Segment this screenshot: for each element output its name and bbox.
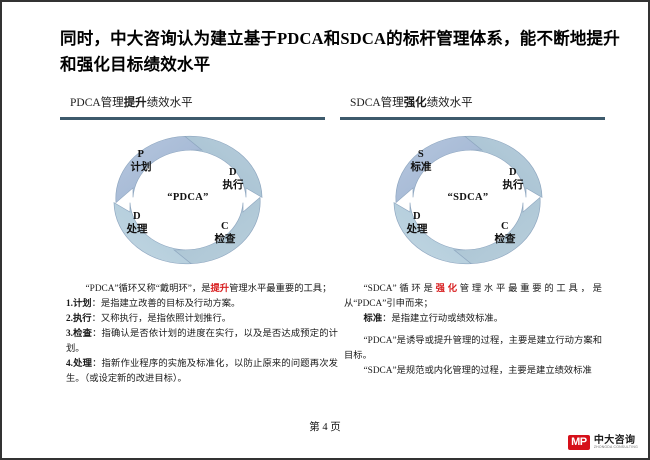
sdca-paragraph-2: “PDCA”是诱导或提升管理的过程，主要是建立行动方案和目标。	[344, 334, 602, 364]
sdca-cycle-diagram: “SDCA” S 标准 D 执行 C 检查 D 处理	[368, 124, 588, 276]
brand-logo: MP 中大咨询 ZHONGDA CONSULTING	[568, 435, 638, 450]
panel-sdca-heading-highlight: 强化	[404, 97, 427, 109]
panel-pdca-heading-suffix: 绩效水平	[147, 97, 193, 109]
page-number: 第 4 页	[2, 419, 648, 434]
panel-pdca-divider	[60, 117, 325, 120]
panel-sdca-divider	[340, 117, 605, 120]
panel-pdca-heading-prefix: PDCA管理	[70, 97, 124, 109]
pdca-item-1-term: 计划	[73, 299, 92, 309]
panel-sdca-heading-prefix: SDCA管理	[350, 97, 404, 109]
pdca-item-3-desc: ：指确认是否依计划的进度在实行，以及是否达成预定的计划。	[66, 329, 338, 354]
sdca-standard-term: 标准	[364, 314, 383, 324]
panel-sdca-heading: SDCA管理强化绩效水平	[340, 94, 630, 110]
panel-sdca-heading-suffix: 绩效水平	[427, 97, 473, 109]
logo-wordmark: 中大咨询 ZHONGDA CONSULTING	[594, 436, 638, 450]
pdca-lead-part2: 管理水平最重要的工具；	[229, 284, 331, 294]
sdca-lead-highlight: 强化	[436, 284, 460, 294]
pdca-item-4-term: 处理	[73, 359, 92, 369]
sdca-cycle-graphic	[368, 124, 568, 276]
sdca-paragraph-3: “SDCA”是规范或内化管理的过程，主要是建立绩效标准	[344, 364, 602, 379]
page-title: 同时，中大咨询认为建立基于PDCA和SDCA的标杆管理体系，能不断地提升和强化目…	[60, 26, 620, 77]
pdca-item-4: 4.处理：指新作业程序的实施及标准化，以防止原来的问题再次发生。（或设定新的改进…	[66, 357, 338, 387]
sdca-standard-line: 标准：是指建立行动或绩效标准。	[344, 312, 602, 327]
panel-pdca-heading-highlight: 提升	[124, 97, 147, 109]
sdca-description: “SDCA”循环是强化管理水平最重要的工具，是从“PDCA”引申而来； 标准：是…	[344, 282, 602, 379]
sdca-standard-desc: ：是指建立行动或绩效标准。	[382, 314, 503, 324]
pdca-description: “PDCA”循环又称“戴明环”，是提升管理水平最重要的工具； 1.计划：是指建立…	[66, 282, 338, 387]
pdca-item-1: 1.计划：是指建立改善的目标及行动方案。	[66, 297, 338, 312]
pdca-item-1-num: 1.	[66, 299, 73, 309]
panel-pdca-heading: PDCA管理提升绩效水平	[60, 94, 350, 110]
pdca-item-3: 3.检查：指确认是否依计划的进度在实行，以及是否达成预定的计划。	[66, 327, 338, 357]
slide-canvas: 同时，中大咨询认为建立基于PDCA和SDCA的标杆管理体系，能不断地提升和强化目…	[0, 0, 650, 460]
pdca-cycle-graphic	[88, 124, 288, 276]
pdca-item-2: 2.执行：又称执行，是指依照计划推行。	[66, 312, 338, 327]
pdca-lead-paragraph: “PDCA”循环又称“戴明环”，是提升管理水平最重要的工具；	[66, 282, 338, 297]
panel-sdca: SDCA管理强化绩效水平	[340, 94, 630, 379]
pdca-lead-highlight: 提升	[211, 284, 230, 294]
logo-company-en: ZHONGDA CONSULTING	[594, 446, 638, 449]
pdca-item-4-num: 4.	[66, 359, 73, 369]
pdca-item-2-term: 执行	[73, 314, 92, 324]
pdca-item-3-term: 检查	[73, 329, 92, 339]
sdca-lead-paragraph: “SDCA”循环是强化管理水平最重要的工具，是从“PDCA”引申而来；	[344, 282, 602, 312]
sdca-lead-part1: “SDCA”循环是	[364, 284, 436, 294]
pdca-lead-part1: “PDCA”循环又称“戴明环”，是	[86, 284, 211, 294]
pdca-item-4-desc: ：指新作业程序的实施及标准化，以防止原来的问题再次发生。（或设定新的改进目标）。	[66, 359, 338, 384]
pdca-item-3-num: 3.	[66, 329, 73, 339]
pdca-cycle-diagram: “PDCA” P 计划 D 执行 C 检查 D 处理	[88, 124, 308, 276]
pdca-item-2-num: 2.	[66, 314, 73, 324]
logo-mark-icon: MP	[568, 435, 590, 450]
pdca-item-1-desc: ：是指建立改善的目标及行动方案。	[92, 299, 241, 309]
pdca-item-2-desc: ：又称执行，是指依照计划推行。	[92, 314, 231, 324]
text-spacer	[344, 327, 602, 334]
panel-pdca: PDCA管理提升绩效水平	[60, 94, 350, 387]
